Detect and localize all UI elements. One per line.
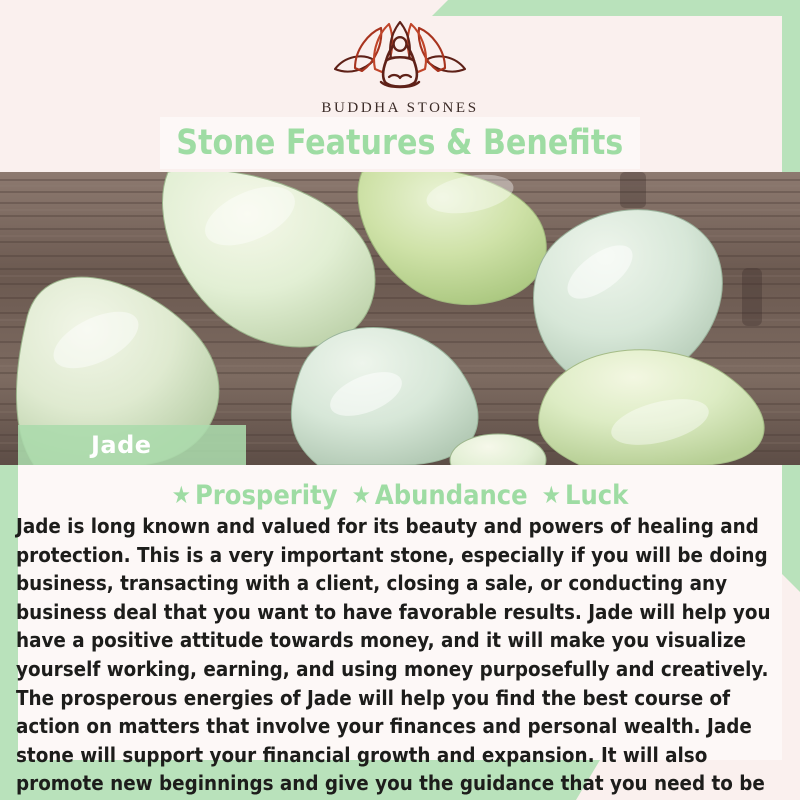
star-icon: ★ xyxy=(352,481,371,509)
stone-name-band: Jade xyxy=(18,425,246,465)
stone-photo xyxy=(0,172,800,465)
decor-band-top-right xyxy=(432,0,800,16)
benefit-prosperity: Prosperity xyxy=(195,480,338,511)
benefit-luck: Luck xyxy=(565,480,628,511)
description-text: Jade is long known and valued for its be… xyxy=(16,512,784,800)
brand-logo: BUDDHA STONES xyxy=(0,20,800,115)
lotus-meditation-icon xyxy=(325,20,475,97)
stone-name: Jade xyxy=(91,431,152,459)
benefit-abundance: Abundance xyxy=(375,480,528,511)
title-banner: Stone Features & Benefits xyxy=(160,117,640,169)
star-icon: ★ xyxy=(172,481,191,509)
star-icon: ★ xyxy=(542,481,561,509)
benefits-list: ★Prosperity★Abundance★Luck xyxy=(0,480,800,511)
brand-wordmark: BUDDHA STONES xyxy=(321,100,478,117)
infographic-page: BUDDHA STONES Stone Features & Benefits xyxy=(0,0,800,800)
page-title: Stone Features & Benefits xyxy=(176,123,623,163)
